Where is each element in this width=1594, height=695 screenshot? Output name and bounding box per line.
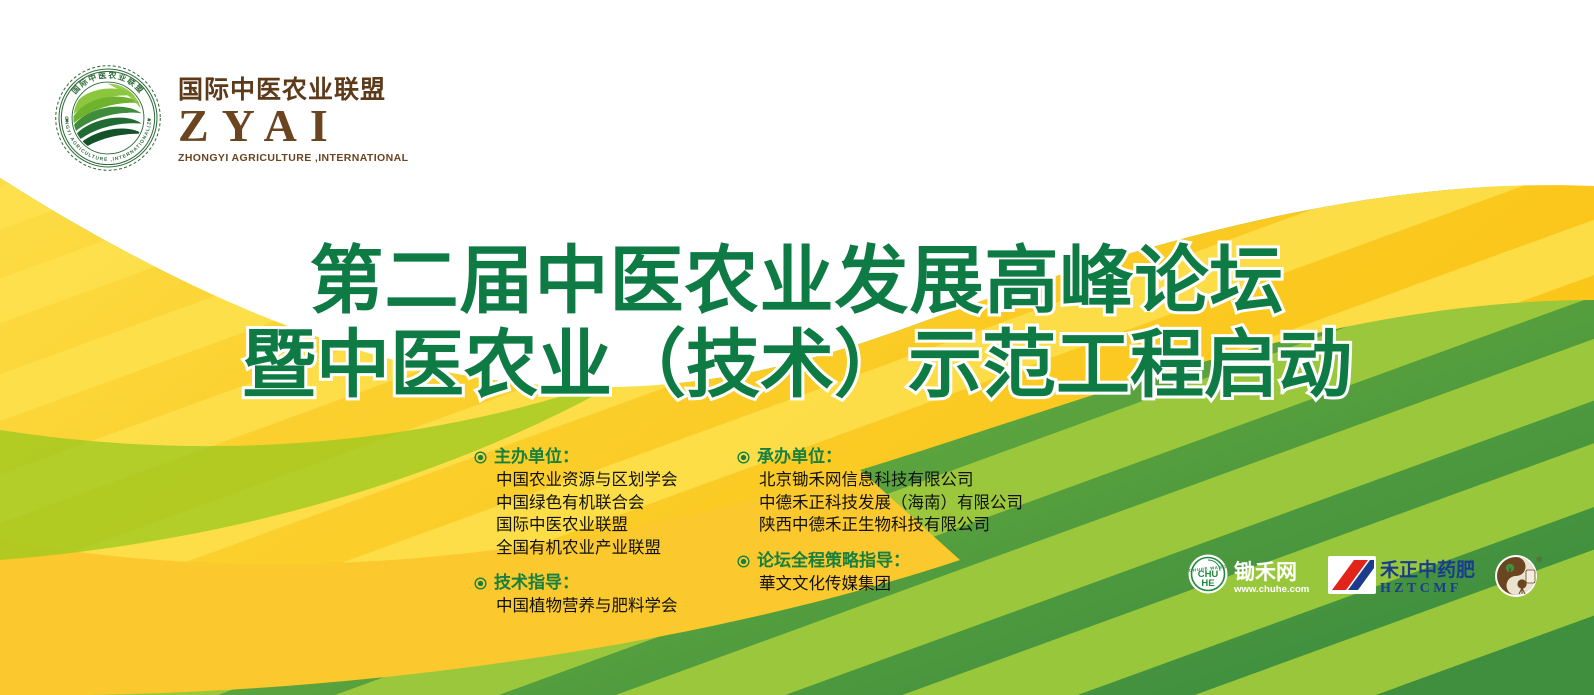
logo-acronym: ZYAI [178, 103, 408, 150]
credit-heading-label: 技术指导： [494, 573, 579, 594]
credit-heading-label: 论坛全程策略指导： [757, 551, 910, 572]
svg-text:锄禾网: 锄禾网 [1234, 560, 1297, 584]
credit-group-strategic-guidance: 论坛全程策略指导： 華文文化传媒集团 [737, 551, 1037, 596]
svg-text:禾正中药肥: 禾正中药肥 [1380, 558, 1475, 581]
credit-heading: 承办单位： [737, 447, 1037, 468]
bullet-ring-icon [474, 577, 487, 590]
sponsor-logo-strip: CHUHE WANG CHU HE 锄禾网 www.chuhe.com 禾正中药… [1186, 550, 1548, 600]
credit-item: 華文文化传媒集团 [759, 573, 1037, 595]
bullet-ring-icon [737, 451, 750, 464]
credit-item: 北京锄禾网信息科技有限公司 [759, 469, 1037, 491]
credit-group-co-organizers: 承办单位： 北京锄禾网信息科技有限公司 中德禾正科技发展（海南）有限公司 陕西中… [737, 447, 1037, 537]
svg-text:www.chuhe.com: www.chuhe.com [1233, 584, 1309, 595]
bullet-ring-icon [737, 555, 750, 568]
credit-item: 国际中医农业联盟 [496, 514, 737, 536]
logo-org-name-en: ZHONGYI AGRICULTURE ,INTERNATIONAL [178, 153, 408, 164]
svg-text:HZTCMF: HZTCMF [1380, 581, 1462, 596]
credit-heading-label: 承办单位： [757, 447, 842, 468]
chuhe-wang-logo-icon: CHUHE WANG CHU HE 锄禾网 www.chuhe.com [1186, 552, 1314, 598]
credit-item: 中德禾正科技发展（海南）有限公司 [759, 492, 1037, 514]
credit-item: 中国植物营养与肥料学会 [496, 595, 737, 617]
credit-group-technical-guidance: 技术指导： 中国植物营养与肥料学会 [474, 573, 737, 618]
plant-root-circular-logo-icon: ® [1492, 550, 1548, 600]
credit-heading: 技术指导： [474, 573, 737, 594]
organization-logo-lockup: 国际中医农业联盟 ZHONGYI AGRICULTURE ,INTERNATIO… [52, 62, 408, 174]
credit-item: 全国有机农业产业联盟 [496, 537, 737, 559]
logo-wordmark: 国际中医农业联盟 ZYAI ZHONGYI AGRICULTURE ,INTER… [178, 73, 408, 163]
credit-item: 中国绿色有机联合会 [496, 492, 737, 514]
credits-block: 主办单位： 中国农业资源与区划学会 中国绿色有机联合会 国际中医农业联盟 全国有… [474, 447, 1037, 618]
credits-column-left: 主办单位： 中国农业资源与区划学会 中国绿色有机联合会 国际中医农业联盟 全国有… [474, 447, 737, 618]
svg-text:®: ® [1469, 559, 1475, 567]
credit-item: 陕西中德禾正生物科技有限公司 [759, 514, 1037, 536]
zyai-circular-emblem-icon: 国际中医农业联盟 ZHONGYI AGRICULTURE ,INTERNATIO… [52, 62, 164, 174]
svg-text:HE: HE [1201, 578, 1214, 589]
svg-text:®: ® [1536, 555, 1542, 564]
credit-heading-label: 主办单位： [494, 447, 579, 468]
logo-org-name-cn: 国际中医农业联盟 [178, 77, 408, 102]
conference-banner: 国际中医农业联盟 ZHONGYI AGRICULTURE ,INTERNATIO… [0, 0, 1594, 695]
credit-item: 中国农业资源与区划学会 [496, 469, 737, 491]
bullet-ring-icon [474, 451, 487, 464]
credit-group-organizers: 主办单位： 中国农业资源与区划学会 中国绿色有机联合会 国际中医农业联盟 全国有… [474, 447, 737, 559]
credit-heading: 主办单位： [474, 447, 737, 468]
credits-column-right: 承办单位： 北京锄禾网信息科技有限公司 中德禾正科技发展（海南）有限公司 陕西中… [737, 447, 1037, 618]
credit-heading: 论坛全程策略指导： [737, 551, 1037, 572]
hzt-cmf-logo-icon: 禾正中药肥 ® HZTCMF [1328, 552, 1478, 598]
